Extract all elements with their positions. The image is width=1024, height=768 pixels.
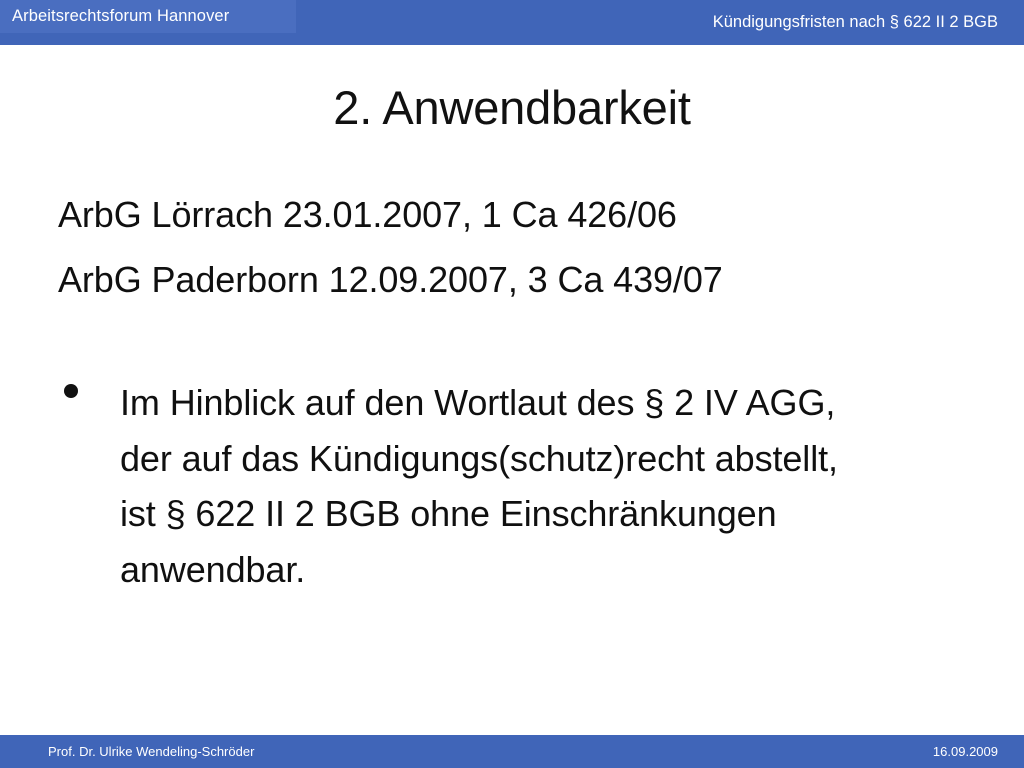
list-item: Im Hinblick auf den Wortlaut des § 2 IV … <box>58 375 998 597</box>
bullet-dot-icon <box>64 384 78 398</box>
citation-line-1: ArbG Lörrach 23.01.2007, 1 Ca 426/06 <box>58 193 677 237</box>
header-organization-label: Arbeitsrechtsforum Hannover <box>12 7 292 26</box>
page-title: 2. Anwendbarkeit <box>0 80 1024 135</box>
bullet-line-3: ist § 622 II 2 BGB ohne Einschränkungen <box>120 486 998 542</box>
citation-line-2: ArbG Paderborn 12.09.2007, 3 Ca 439/07 <box>58 258 723 302</box>
slide-footer-band: Prof. Dr. Ulrike Wendeling-Schröder 16.0… <box>0 735 1024 768</box>
bullet-line-2: der auf das Kündigungs(schutz)recht abst… <box>120 431 998 487</box>
footer-date-label: 16.09.2009 <box>933 744 998 760</box>
bullet-line-1: Im Hinblick auf den Wortlaut des § 2 IV … <box>120 375 998 431</box>
header-topic-label: Kündigungsfristen nach § 622 II 2 BGB <box>713 12 998 32</box>
footer-author-label: Prof. Dr. Ulrike Wendeling-Schröder <box>48 744 254 760</box>
slide-header-band: Arbeitsrechtsforum Hannover Kündigungsfr… <box>0 0 1024 45</box>
bullet-line-4: anwendbar. <box>120 542 998 598</box>
bullet-paragraph: Im Hinblick auf den Wortlaut des § 2 IV … <box>58 375 998 597</box>
presentation-slide: Arbeitsrechtsforum Hannover Kündigungsfr… <box>0 0 1024 768</box>
